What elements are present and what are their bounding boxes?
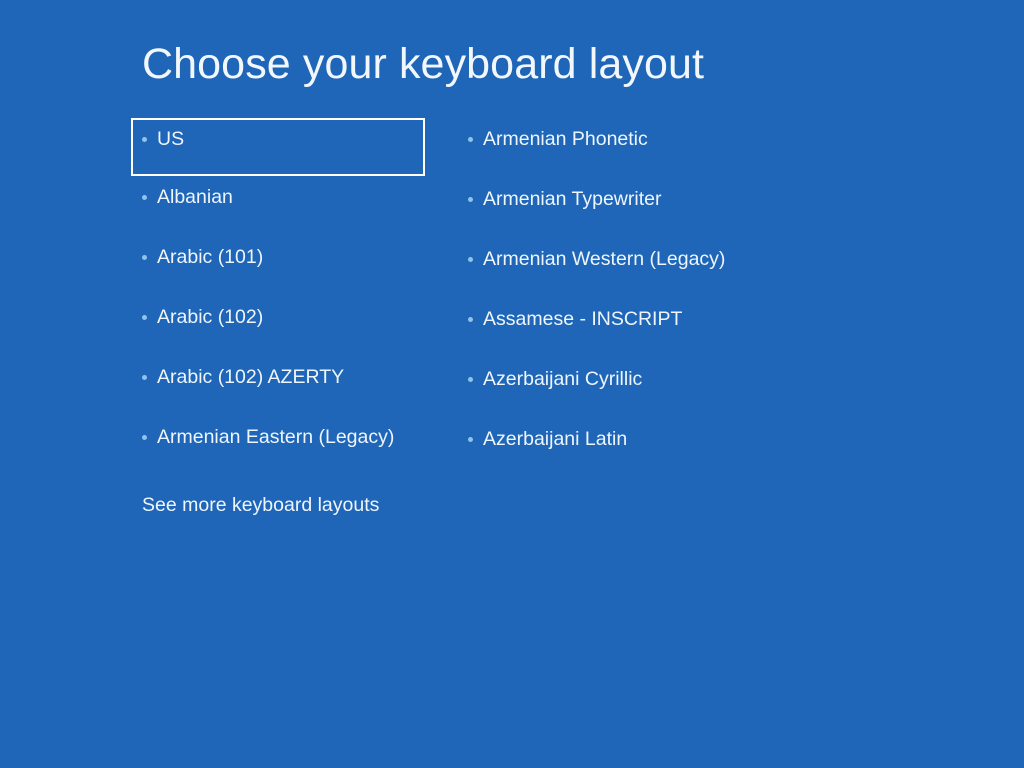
bullet-icon <box>142 315 147 320</box>
keyboard-layout-option-azerbaijani-latin[interactable]: Azerbaijani Latin <box>468 418 798 478</box>
bullet-icon <box>142 137 147 142</box>
bullet-icon <box>468 317 473 322</box>
bullet-icon <box>468 137 473 142</box>
bullet-icon <box>142 375 147 380</box>
keyboard-layout-option-armenian-western-legacy[interactable]: Armenian Western (Legacy) <box>468 238 798 298</box>
keyboard-layout-option-arabic-102-azerty[interactable]: Arabic (102) AZERTY <box>142 356 442 416</box>
recovery-environment-screen: Choose your keyboard layout US Albanian … <box>0 0 1024 768</box>
keyboard-layout-list-right: Armenian Phonetic Armenian Typewriter Ar… <box>468 118 798 478</box>
keyboard-layout-label: US <box>157 128 184 150</box>
bullet-icon <box>142 435 147 440</box>
bullet-icon <box>468 197 473 202</box>
keyboard-layout-list-left: US Albanian Arabic (101) Arabic (102) Ar… <box>142 118 442 476</box>
keyboard-layout-label: Armenian Phonetic <box>483 128 648 150</box>
bullet-icon <box>142 195 147 200</box>
keyboard-layout-label: Azerbaijani Cyrillic <box>483 368 642 390</box>
bullet-icon <box>468 377 473 382</box>
keyboard-layout-option-albanian[interactable]: Albanian <box>142 176 442 236</box>
keyboard-layout-option-azerbaijani-cyrillic[interactable]: Azerbaijani Cyrillic <box>468 358 798 418</box>
keyboard-layout-option-arabic-101[interactable]: Arabic (101) <box>142 236 442 296</box>
keyboard-layout-option-arabic-102[interactable]: Arabic (102) <box>142 296 442 356</box>
keyboard-layout-option-assamese-inscript[interactable]: Assamese - INSCRIPT <box>468 298 798 358</box>
keyboard-layout-option-armenian-phonetic[interactable]: Armenian Phonetic <box>468 118 798 178</box>
see-more-keyboard-layouts-link[interactable]: See more keyboard layouts <box>142 493 379 517</box>
page-title: Choose your keyboard layout <box>142 36 704 92</box>
keyboard-layout-option-armenian-eastern-legacy[interactable]: Armenian Eastern (Legacy) <box>142 416 442 476</box>
keyboard-layout-label: Arabic (102) <box>157 306 263 328</box>
keyboard-layout-option-armenian-typewriter[interactable]: Armenian Typewriter <box>468 178 798 238</box>
keyboard-layout-label: Albanian <box>157 186 233 208</box>
bullet-icon <box>142 255 147 260</box>
keyboard-layout-option-us[interactable]: US <box>131 118 425 176</box>
keyboard-layout-label: Armenian Western (Legacy) <box>483 248 725 270</box>
keyboard-layout-label: Armenian Eastern (Legacy) <box>157 426 394 448</box>
bullet-icon <box>468 257 473 262</box>
keyboard-layout-label: Armenian Typewriter <box>483 188 661 210</box>
keyboard-layout-label: Arabic (101) <box>157 246 263 268</box>
keyboard-layout-label: Assamese - INSCRIPT <box>483 308 682 330</box>
keyboard-layout-label: Azerbaijani Latin <box>483 428 627 450</box>
bullet-icon <box>468 437 473 442</box>
keyboard-layout-label: Arabic (102) AZERTY <box>157 366 344 388</box>
